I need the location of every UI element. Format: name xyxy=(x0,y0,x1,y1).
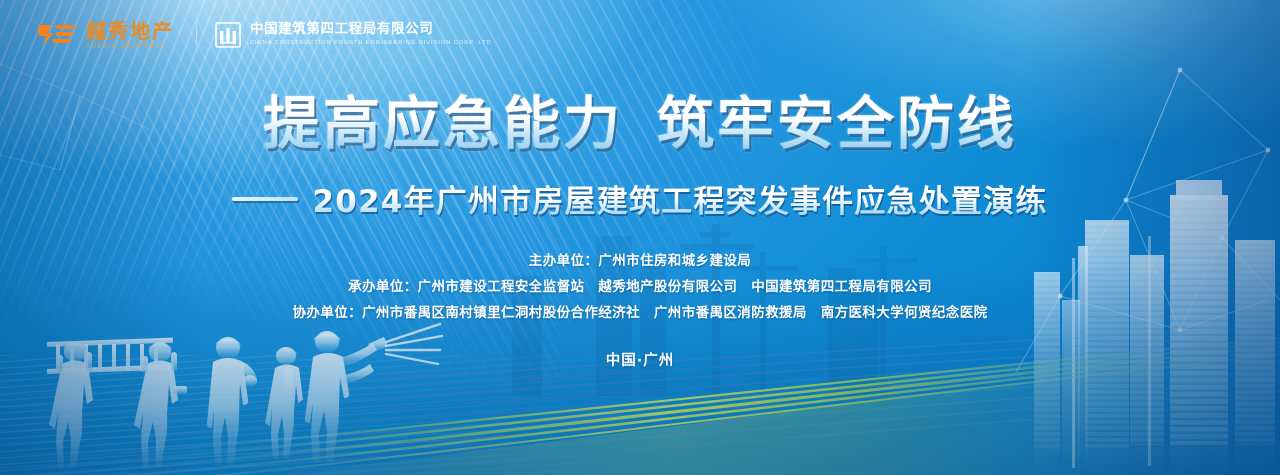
top-left-glow xyxy=(0,0,1280,475)
right-vignette xyxy=(0,0,1280,475)
organizer-line: 主办单位：广州市住房和城乡建设局 xyxy=(0,248,1280,274)
subtitle-block: 2024年广州市房屋建筑工程突发事件应急处置演练 xyxy=(0,176,1280,221)
headline-block: 提高应急能力筑牢安全防线 xyxy=(0,78,1280,160)
subtitle-text: 2024年广州市房屋建筑工程突发事件应急处置演练 xyxy=(312,176,1047,221)
top-right-glow xyxy=(0,0,1280,475)
tower-crane-silhouettes xyxy=(0,0,1280,475)
credits-block: 主办单位：广州市住房和城乡建设局 承办单位：广州市建设工程安全监督站 越秀地产股… xyxy=(0,248,1280,370)
subtitle-dash-icon xyxy=(232,197,298,201)
ye-monogram-icon xyxy=(36,22,78,48)
host-line: 承办单位：广州市建设工程安全监督站 越秀地产股份有限公司 中国建筑第四工程局有限… xyxy=(0,274,1280,300)
network-polygon-lines xyxy=(0,0,1280,475)
skyscraper-silhouettes xyxy=(0,0,1280,475)
lower-left-hatch xyxy=(0,355,760,475)
event-banner: 越秀地产 YUEXIU PROPERTY 中国建筑第四工程局有限公司 CHINA… xyxy=(0,0,1280,475)
location-label: 中国·广州 xyxy=(0,349,1280,370)
logo-bar: 越秀地产 YUEXIU PROPERTY 中国建筑第四工程局有限公司 CHINA… xyxy=(36,18,492,52)
diagonal-stripes-left xyxy=(0,0,727,461)
yuexiu-logo-english: YUEXIU PROPERTY xyxy=(86,44,174,50)
yuexiu-property-logo: 越秀地产 YUEXIU PROPERTY xyxy=(36,21,174,50)
cscec-logo-english: CHINA CONSTRUCTION FOURTH ENGINEERING DI… xyxy=(250,41,492,47)
bottom-vignette xyxy=(0,0,1280,475)
co-organizer-line: 协办单位：广州市番禺区南村镇里仁洞村股份合作经济社 广州市番禺区消防救援局 南方… xyxy=(0,300,1280,326)
logo-divider xyxy=(196,18,197,52)
left-vignette xyxy=(0,0,1280,475)
green-light-wave xyxy=(0,0,1280,475)
headline-part-2: 筑牢安全防线 xyxy=(657,91,1017,157)
yuexiu-logo-chinese: 越秀地产 xyxy=(86,21,174,41)
cscec-logo-chinese: 中国建筑第四工程局有限公司 xyxy=(250,23,492,37)
firefighter-silhouettes xyxy=(0,0,1280,475)
headline-part-1: 提高应急能力 xyxy=(263,91,623,157)
cscec-logo: 中国建筑第四工程局有限公司 CHINA CONSTRUCTION FOURTH … xyxy=(215,22,492,48)
cscec-building-icon xyxy=(215,22,241,48)
